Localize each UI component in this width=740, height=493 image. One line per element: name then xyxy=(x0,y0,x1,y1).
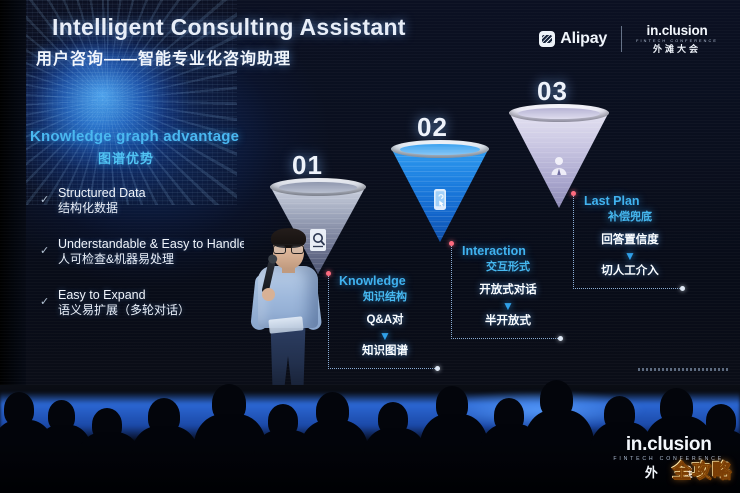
alipay-logo: Alipay xyxy=(539,30,607,48)
check-icon: ✓ xyxy=(40,244,49,257)
watermark-wordmark: in.clusion xyxy=(613,435,724,454)
callout-to: 切人工介入 xyxy=(584,263,676,280)
callout-03: Last Plan 补偿兜底 回答置信度 ▼ 切人工介入 xyxy=(573,194,682,289)
callout-to: 半开放式 xyxy=(462,313,554,330)
bullet-label-en: Understandable & Easy to Handle xyxy=(58,237,244,252)
callout-01: Knowledge 知识结构 Q&A对 ▼ 知识图谱 xyxy=(328,274,437,369)
speaker-presenter xyxy=(245,222,331,394)
callout-end-dot xyxy=(680,286,685,291)
callout-title-en: Interaction xyxy=(462,244,554,260)
down-arrow-icon: ▼ xyxy=(462,300,554,312)
callout-title-en: Knowledge xyxy=(339,274,431,290)
inclusion-wordmark: in.clusion xyxy=(636,24,718,38)
speaker-hand xyxy=(262,288,275,301)
callout-start-dot xyxy=(571,191,576,196)
screen-edge-dots xyxy=(638,368,730,371)
callout-from: Q&A对 xyxy=(339,312,431,329)
callout-start-dot xyxy=(449,241,454,246)
agent-person-icon xyxy=(549,154,569,178)
callout-to: 知识图谱 xyxy=(339,343,431,360)
callout-from: 回答置信度 xyxy=(584,232,676,249)
callout-title-cn: 交互形式 xyxy=(462,260,554,275)
cone-rim-inner xyxy=(518,108,600,119)
watermark-overlay-text: 全攻略 xyxy=(672,456,732,483)
stage-number-01: 01 xyxy=(292,150,323,181)
down-arrow-icon: ▼ xyxy=(584,250,676,262)
glasses-icon xyxy=(273,244,304,253)
logo-divider xyxy=(621,26,622,52)
conference-stage-photo: Intelligent Consulting Assistant 用户咨询——智… xyxy=(0,0,740,493)
cone-rim-inner xyxy=(400,144,480,155)
callout-end-dot xyxy=(435,366,440,371)
callout-from: 开放式对话 xyxy=(462,282,554,299)
funnel-cone-02 xyxy=(391,148,489,242)
stage-number-03: 03 xyxy=(537,76,568,107)
led-presentation-screen: Intelligent Consulting Assistant 用户咨询——智… xyxy=(0,0,740,385)
alipay-wordmark: Alipay xyxy=(560,30,607,48)
cone-rim-inner xyxy=(279,182,358,193)
down-arrow-icon: ▼ xyxy=(339,330,431,342)
section-heading-en: Knowledge graph advantage xyxy=(30,128,239,145)
section-heading-cn: 图谱优势 xyxy=(98,148,154,167)
callout-02: Interaction 交互形式 开放式对话 ▼ 半开放式 xyxy=(451,244,560,339)
callout-title-cn: 知识结构 xyxy=(339,290,431,305)
inclusion-cn: 外滩大会 xyxy=(636,45,718,54)
inclusion-logo: in.clusion FINTECH CONFERENCE 外滩大会 xyxy=(636,24,718,54)
screen-left-bezel xyxy=(0,0,26,385)
callout-title-en: Last Plan xyxy=(584,194,676,210)
slide-title-en: Intelligent Consulting Assistant xyxy=(52,14,406,41)
callout-end-dot xyxy=(558,336,563,341)
sponsor-logos: Alipay in.clusion FINTECH CONFERENCE 外滩大… xyxy=(539,24,718,54)
mobile-touch-icon xyxy=(430,188,450,212)
slide-title-cn: 用户咨询——智能专业化咨询助理 xyxy=(36,45,291,69)
check-icon: ✓ xyxy=(40,193,49,206)
callout-title-cn: 补偿兜底 xyxy=(584,210,676,225)
stage-number-02: 02 xyxy=(417,112,448,143)
inclusion-tagline: FINTECH CONFERENCE xyxy=(636,40,718,44)
check-icon: ✓ xyxy=(40,295,49,308)
alipay-logo-icon xyxy=(539,31,555,47)
